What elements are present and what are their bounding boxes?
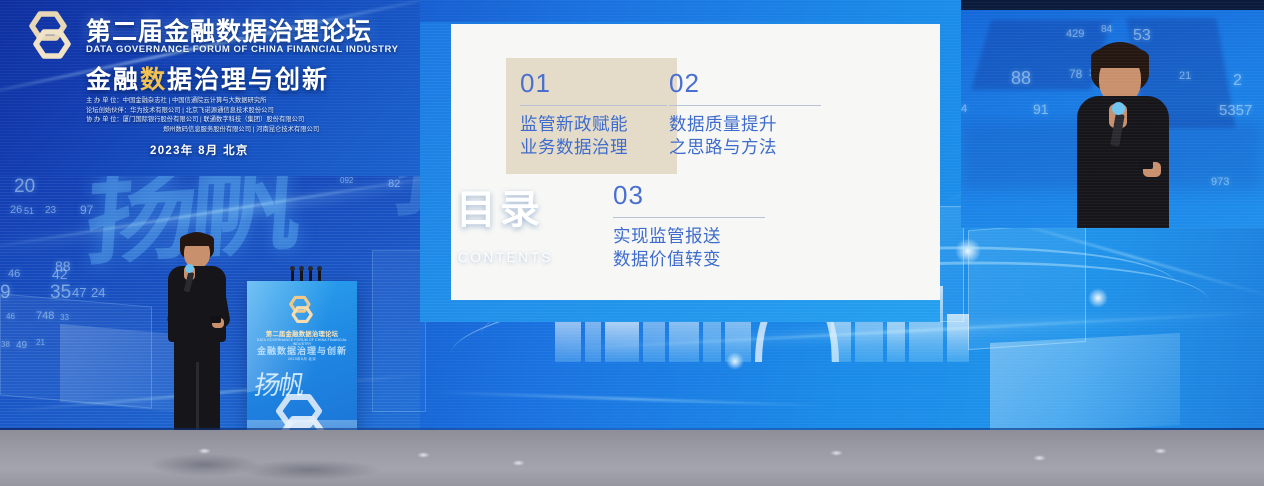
data-number: 48 (1095, 101, 1111, 117)
data-number: 35 (50, 282, 71, 304)
data-number: 31 (1089, 68, 1099, 78)
data-number: 4 (961, 103, 967, 115)
slide-toc-subtitle: CONTENTS (458, 250, 553, 265)
toc-item-divider (669, 105, 821, 106)
data-number: 91 (1033, 101, 1049, 117)
organizer-line: 论坛创始伙伴：华为技术有限公司 | 北京飞诺源通信息技术股份公司 (86, 106, 396, 116)
stage-microphone-head (185, 264, 194, 273)
speaker-arm-right (1130, 120, 1168, 186)
data-number: 88 (55, 258, 71, 274)
banner-theme-pre: 金融 (86, 65, 140, 94)
organizer-line: 协 办 单 位：厦门国际银行股份有限公司 | 联通数字科技（集团）股份有限公司 (86, 115, 396, 125)
podium-shadow (240, 460, 380, 480)
stage-presenter-clicker (210, 316, 221, 323)
data-number: 21 (1179, 70, 1191, 82)
data-number: 23 (45, 205, 56, 216)
speaker-closeup-figure (1069, 42, 1179, 228)
toc-item-number: 02 (669, 70, 821, 96)
presentation-slide: 目录 CONTENTS 01 监管新政赋能 业务数据治理 02 数据质量提升 之… (420, 22, 940, 322)
toc-item-line2: 数据价值转变 (613, 249, 765, 272)
podium-title-cn: 第二届金融数据治理论坛 (247, 329, 357, 338)
slide-left-strip (420, 22, 451, 322)
banner-title-cn: 第二届金融数据治理论坛 (86, 12, 372, 48)
stage-speaker-hair-top (180, 233, 214, 246)
data-number: 26 (10, 204, 22, 216)
organizer-line: 主 办 单 位：中国金融杂志社 | 中国信通院云计算与大数据研究所 (86, 96, 396, 106)
toc-item-line1: 监管新政赋能 (520, 114, 667, 137)
organizer-line: 郑州数码信息服务股份有限公司 | 河南昆仑技术有限公司 (86, 125, 396, 135)
banner-theme-post: 据治理与创新 (167, 65, 329, 94)
speaker-video-feed: 429845388783121249120485357973 (961, 0, 1264, 228)
data-number: 2 (1233, 72, 1242, 90)
podium-microphones (287, 266, 323, 282)
toc-item-number: 03 (613, 182, 765, 208)
toc-item-03[interactable]: 03 实现监管报送 数据价值转变 (599, 170, 775, 286)
slide-toc-title: 目录 (456, 190, 544, 230)
data-number: 88 (1011, 68, 1031, 89)
data-number: 21 (36, 338, 45, 347)
toc-item-divider (520, 105, 667, 106)
feed-letterbox (961, 0, 1264, 10)
microphone-head (1112, 102, 1125, 115)
data-number: 973 (1211, 176, 1229, 188)
banner-theme: 金融数据治理与创新 (86, 60, 329, 96)
speaker-hand-clicker (1143, 162, 1161, 177)
banner-title-en: DATA GOVERNANCE FORUM OF CHINA FINANCIAL… (86, 44, 398, 55)
feed-backdrop-shape (971, 20, 1111, 90)
data-number: 51 (24, 206, 34, 216)
data-number: 33 (60, 313, 69, 322)
data-number: 092 (340, 176, 353, 185)
data-number: 5357 (1219, 102, 1252, 119)
speaker-hair-top (1091, 46, 1149, 68)
speaker-torso (1077, 96, 1169, 228)
stage-scene: 扬帆 扬帆 (0, 0, 1264, 486)
data-number: 82 (388, 178, 400, 190)
podium-date: 2023年8月 北京 (247, 357, 357, 362)
podium-theme: 金融数据治理与创新 (247, 344, 357, 357)
data-number: 9 (0, 282, 11, 304)
data-number: 53 (1133, 27, 1151, 45)
toc-item-number: 01 (520, 70, 667, 96)
toc-item-02[interactable]: 02 数据质量提升 之思路与方法 (655, 58, 831, 174)
speaker-head (1099, 54, 1141, 104)
wall-panel (372, 250, 426, 412)
handheld-microphone (1110, 113, 1124, 146)
data-number: 748 (36, 310, 54, 322)
speaker-hand-mic (1109, 104, 1127, 128)
banner-theme-highlight: 数 (140, 65, 167, 94)
toc-item-line1: 实现监管报送 (613, 226, 765, 249)
data-number: 429 (1066, 28, 1084, 40)
banner-date-location: 2023年 8月 北京 (150, 142, 249, 158)
feed-backdrop-shape (961, 120, 1264, 190)
toc-item-01[interactable]: 01 监管新政赋能 业务数据治理 (506, 58, 677, 174)
feed-backdrop-shape (1126, 18, 1235, 128)
stage-floor (0, 430, 1264, 486)
presenter-clicker (1139, 160, 1153, 169)
data-number: 47 (72, 285, 86, 300)
toc-item-line2: 之思路与方法 (669, 137, 821, 160)
podium-hexagon-logo-icon (285, 295, 317, 325)
data-number: 20 (1085, 101, 1093, 108)
banner-light-beam (0, 0, 420, 103)
speaker-arm-left (1088, 114, 1126, 187)
data-number: 20 (14, 176, 35, 198)
speaker-hair (1091, 42, 1149, 92)
data-number: 84 (1101, 24, 1112, 35)
toc-item-line2: 业务数据治理 (520, 137, 667, 160)
data-number: 24 (91, 285, 105, 300)
event-banner: 第二届金融数据治理论坛 DATA GOVERNANCE FORUM OF CHI… (0, 0, 420, 176)
data-number: 46 (8, 268, 20, 280)
forum-hexagon-logo-icon (22, 10, 78, 62)
banner-organizers: 主 办 单 位：中国金融杂志社 | 中国信通院云计算与大数据研究所 论坛创始伙伴… (86, 96, 396, 134)
data-number: 97 (80, 203, 93, 217)
data-number: 78 (1069, 67, 1082, 81)
data-number: 38 (1, 340, 10, 349)
data-number: 49 (16, 340, 27, 351)
data-number: 46 (6, 312, 15, 321)
toc-item-line1: 数据质量提升 (669, 114, 821, 137)
toc-item-divider (613, 217, 765, 218)
